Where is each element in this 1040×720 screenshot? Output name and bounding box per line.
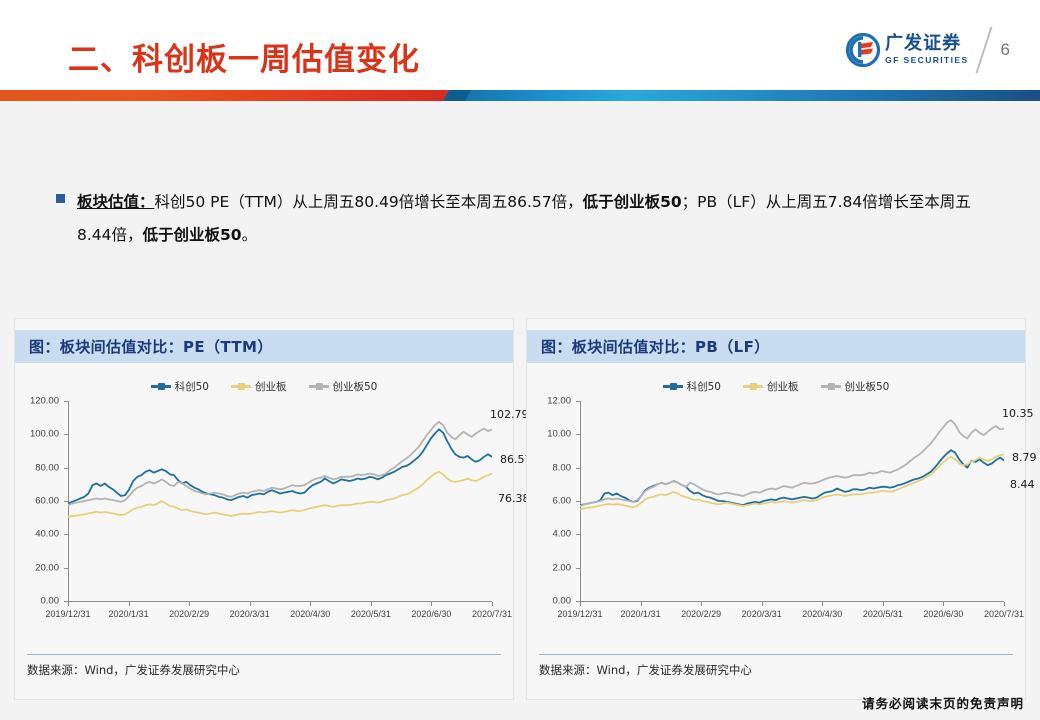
y-axis-tick	[576, 501, 580, 502]
y-axis-tick-label: 20.00	[35, 562, 59, 573]
x-axis-tick-label: 2019/12/31	[557, 609, 602, 619]
legend-swatch-line-icon	[821, 385, 841, 388]
y-axis-tick-label: 40.00	[35, 529, 59, 540]
x-axis-tick	[822, 602, 823, 606]
page-number: 6	[1001, 40, 1018, 60]
x-axis-tick	[701, 602, 702, 606]
series-line-科创50	[580, 450, 1004, 505]
chart-pe-series-lines	[68, 401, 492, 602]
y-axis-tick-label: 80.00	[35, 462, 59, 473]
y-axis-tick	[64, 501, 68, 502]
legend-item-cyb: 创业板	[231, 379, 287, 394]
x-axis-tick-label: 2020/6/30	[411, 609, 451, 619]
legend-label: 创业板50	[845, 379, 890, 394]
bullet-seg1: 科创50 PE（TTM）从上周五80.49倍增长至本周五86.57倍，	[155, 193, 583, 211]
x-axis-tick	[431, 602, 432, 606]
bullet-text: 板块估值：科创50 PE（TTM）从上周五80.49倍增长至本周五86.57倍，…	[77, 186, 984, 252]
x-axis-tick-label: 2020/6/30	[923, 609, 963, 619]
y-axis-tick	[576, 568, 580, 569]
legend-item-cyb: 创业板	[743, 379, 799, 394]
y-axis-tick	[64, 534, 68, 535]
bullet-seg2: 低于创业板50	[583, 193, 682, 211]
bullet-seg5: 。	[242, 226, 258, 244]
x-axis-tick-label: 2019/12/31	[45, 609, 90, 619]
chart-pb-plot-area: 0.002.004.006.008.0010.0012.00 2019/12/3…	[527, 401, 1027, 631]
series-line-创业板50	[580, 420, 1004, 506]
chart-pb-series-lines	[580, 401, 1004, 602]
y-axis-tick	[576, 434, 580, 435]
legend-item-kc50: 科创50	[151, 379, 209, 394]
x-axis-tick	[310, 602, 311, 606]
chart-pe-y-axis-labels: 0.0020.0040.0060.0080.00100.00120.00	[15, 401, 63, 601]
y-axis-tick	[64, 468, 68, 469]
y-axis-tick	[64, 401, 68, 402]
y-axis-tick	[576, 468, 580, 469]
x-axis-tick	[1004, 602, 1005, 606]
logo-text-en: GF SECURITIES	[885, 56, 968, 65]
x-axis-tick	[883, 602, 884, 606]
chart-pe-plot-area: 0.0020.0040.0060.0080.00100.00120.00 201…	[15, 401, 515, 631]
divider-blue-segment	[452, 90, 1040, 101]
x-axis-tick-label: 2020/5/31	[863, 609, 903, 619]
x-axis-tick-label: 2020/1/31	[621, 609, 661, 619]
legend-label: 科创50	[175, 379, 209, 394]
x-axis-tick	[250, 602, 251, 606]
legend-label: 科创50	[687, 379, 721, 394]
legend-swatch-line-icon	[309, 385, 329, 388]
x-axis-tick	[371, 602, 372, 606]
y-axis-tick-label: 4.00	[553, 529, 572, 540]
chart-pe-source-text: 数据来源：Wind，广发证券发展研究中心	[27, 662, 240, 678]
y-axis-tick-label: 0.00	[553, 596, 572, 607]
summary-bullet-block: 板块估值：科创50 PE（TTM）从上周五80.49倍增长至本周五86.57倍，…	[56, 186, 984, 252]
y-axis-tick-label: 2.00	[553, 562, 572, 573]
x-axis-tick	[68, 602, 69, 606]
chart-panel-pb-title: 图：板块间估值对比：PB（LF）	[541, 336, 770, 357]
chart-pe-source: 数据来源：Wind，广发证券发展研究中心	[27, 654, 501, 685]
y-axis-tick-label: 6.00	[553, 496, 572, 507]
x-axis-tick-label: 2020/7/31	[984, 609, 1024, 619]
series-line-创业板	[580, 455, 1004, 510]
x-axis-tick-label: 2020/4/30	[802, 609, 842, 619]
x-axis-tick	[189, 602, 190, 606]
logo-divider	[975, 27, 992, 73]
bullet-row: 板块估值：科创50 PE（TTM）从上周五80.49倍增长至本周五86.57倍，…	[56, 186, 984, 252]
y-axis-tick-label: 12.00	[547, 396, 571, 407]
x-axis-tick-label: 2020/2/29	[681, 609, 721, 619]
legend-label: 创业板	[767, 379, 799, 394]
x-axis-tick-label: 2020/2/29	[169, 609, 209, 619]
chart-panel-pe: 图：板块间估值对比：PE（TTM） 科创50 创业板 创业板50 0.0020.…	[14, 318, 514, 700]
x-axis-tick	[492, 602, 493, 606]
chart-panel-pe-header: 图：板块间估值对比：PE（TTM）	[15, 330, 513, 363]
gf-logo-icon	[846, 33, 880, 67]
chart-pe-legend: 科创50 创业板 创业板50	[15, 379, 513, 394]
x-axis-tick-label: 2020/3/31	[742, 609, 782, 619]
y-axis-tick-label: 100.00	[30, 429, 59, 440]
header-divider-bar	[0, 90, 1040, 101]
logo-text-cn: 广发证券	[885, 35, 968, 53]
bullet-label: 板块估值：	[77, 193, 155, 211]
series-end-label: 102.79	[490, 408, 529, 421]
page-title: 二、科创板一周估值变化	[68, 34, 420, 79]
y-axis-tick-label: 60.00	[35, 496, 59, 507]
y-axis-tick-label: 0.00	[41, 596, 60, 607]
x-axis-tick-label: 2020/4/30	[290, 609, 330, 619]
footer-disclaimer: 请务必阅读末页的免责声明	[862, 693, 1024, 712]
x-axis-tick-label: 2020/1/31	[109, 609, 149, 619]
legend-swatch-line-icon	[231, 385, 251, 388]
y-axis-tick-label: 8.00	[553, 462, 572, 473]
legend-label: 创业板50	[333, 379, 378, 394]
y-axis-tick	[576, 534, 580, 535]
y-axis-tick-label: 120.00	[30, 396, 59, 407]
x-axis-tick-label: 2020/5/31	[351, 609, 391, 619]
brand-logo: 广发证券 GF SECURITIES 6	[846, 27, 1018, 73]
series-end-label: 10.35	[1002, 407, 1034, 420]
x-axis-tick	[580, 602, 581, 606]
legend-item-cyb50: 创业板50	[821, 379, 890, 394]
divider-orange-segment	[0, 90, 455, 101]
legend-item-kc50: 科创50	[663, 379, 721, 394]
chart-panel-pb: 图：板块间估值对比：PB（LF） 科创50 创业板 创业板50 0.002.00…	[526, 318, 1026, 700]
legend-swatch-line-icon	[663, 385, 683, 388]
y-axis-tick-label: 10.00	[547, 429, 571, 440]
chart-pb-legend: 科创50 创业板 创业板50	[527, 379, 1025, 394]
x-axis-tick-label: 2020/3/31	[230, 609, 270, 619]
legend-label: 创业板	[255, 379, 287, 394]
x-axis-tick	[762, 602, 763, 606]
y-axis-tick	[576, 401, 580, 402]
chart-pb-source-text: 数据来源：Wind，广发证券发展研究中心	[539, 662, 752, 678]
x-axis-tick	[129, 602, 130, 606]
series-end-label: 8.44	[1010, 478, 1035, 491]
y-axis-tick	[64, 568, 68, 569]
legend-item-cyb50: 创业板50	[309, 379, 378, 394]
x-axis-tick	[641, 602, 642, 606]
x-axis-tick-label: 2020/7/31	[472, 609, 512, 619]
bullet-square-icon	[56, 194, 65, 203]
chart-pb-source: 数据来源：Wind，广发证券发展研究中心	[539, 654, 1013, 685]
chart-panel-pb-header: 图：板块间估值对比：PB（LF）	[527, 330, 1025, 363]
bullet-seg4: 低于创业板50	[143, 226, 242, 244]
series-end-label: 76.38	[498, 492, 530, 505]
legend-swatch-line-icon	[151, 385, 171, 388]
y-axis-tick	[64, 434, 68, 435]
series-end-label: 8.79	[1012, 451, 1037, 464]
chart-panel-pe-title: 图：板块间估值对比：PE（TTM）	[29, 336, 273, 357]
chart-pb-y-axis-labels: 0.002.004.006.008.0010.0012.00	[527, 401, 575, 601]
x-axis-tick	[943, 602, 944, 606]
slide-header: 二、科创板一周估值变化 广发证券 GF SECURITIES 6	[0, 0, 1040, 88]
legend-swatch-line-icon	[743, 385, 763, 388]
slide-root: 二、科创板一周估值变化 广发证券 GF SECURITIES 6	[0, 0, 1040, 720]
